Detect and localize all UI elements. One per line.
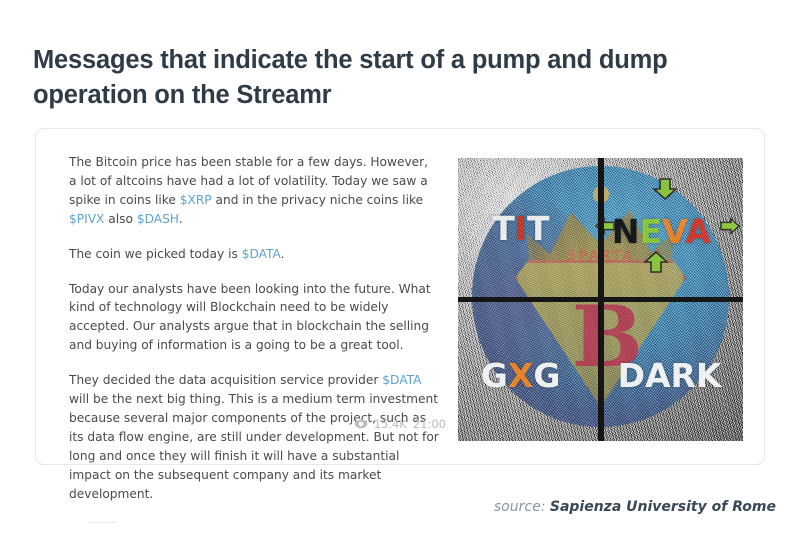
photo-stage: SPARTA B TIT NEVA GXG DARK bbox=[458, 158, 743, 441]
message-card-inner: The Bitcoin price has been stable for a … bbox=[36, 129, 764, 464]
arrow-left-icon bbox=[720, 217, 740, 235]
eye-icon bbox=[354, 417, 368, 431]
photo-label-top-right: NEVA bbox=[612, 215, 711, 248]
photo-label-bottom-left: GXG bbox=[481, 359, 561, 392]
message-card: The Bitcoin price has been stable for a … bbox=[35, 128, 765, 465]
message-text-run: also bbox=[104, 212, 136, 226]
photo-label-bottom-right: DARK bbox=[618, 359, 722, 392]
message-text-run: and in the privacy niche coins like bbox=[212, 193, 423, 207]
source-label: source: bbox=[494, 499, 546, 515]
photo-label-top-left: TIT bbox=[492, 212, 549, 245]
message-photo[interactable]: SPARTA B TIT NEVA GXG DARK bbox=[458, 158, 743, 441]
message-text-run: They decided the data acquisition servic… bbox=[69, 373, 382, 387]
source-name: Sapienza University of Rome bbox=[550, 499, 776, 515]
crosshair-horizontal bbox=[458, 297, 743, 302]
message-text-run: . bbox=[179, 212, 183, 226]
view-count: 15.4K bbox=[374, 417, 407, 431]
message-text-column: The Bitcoin price has been stable for a … bbox=[69, 153, 439, 504]
message-text-run: . bbox=[281, 247, 285, 261]
arrow-down-icon bbox=[652, 178, 678, 200]
cashtag-link[interactable]: $XRP bbox=[180, 193, 212, 207]
page-title: Messages that indicate the start of a pu… bbox=[33, 43, 763, 113]
message-paragraph: Today our analysts have been looking int… bbox=[69, 280, 439, 356]
cashtag-link[interactable]: $DASH bbox=[137, 212, 179, 226]
message-text-run: The coin we picked today is bbox=[69, 247, 242, 261]
cashtag-link[interactable]: $DATA bbox=[382, 373, 421, 387]
message-paragraph: They decided the data acquisition servic… bbox=[69, 371, 439, 503]
message-meta: 15.4K 21:00 bbox=[336, 417, 446, 431]
message-paragraph: The coin we picked today is $DATA. bbox=[69, 245, 439, 264]
source-attribution: source: Sapienza University of Rome bbox=[494, 499, 776, 515]
message-text-run: Today our analysts have been looking int… bbox=[69, 282, 431, 353]
cashtag-link[interactable]: $PIVX bbox=[69, 212, 104, 226]
message-time: 21:00 bbox=[413, 417, 446, 431]
message-text-run: will be the next big thing. This is a me… bbox=[69, 392, 439, 501]
message-paragraph: The Bitcoin price has been stable for a … bbox=[69, 153, 439, 229]
cashtag-link[interactable]: $DATA bbox=[242, 247, 281, 261]
bottom-divider bbox=[88, 522, 116, 523]
arrow-up-icon bbox=[643, 251, 669, 273]
